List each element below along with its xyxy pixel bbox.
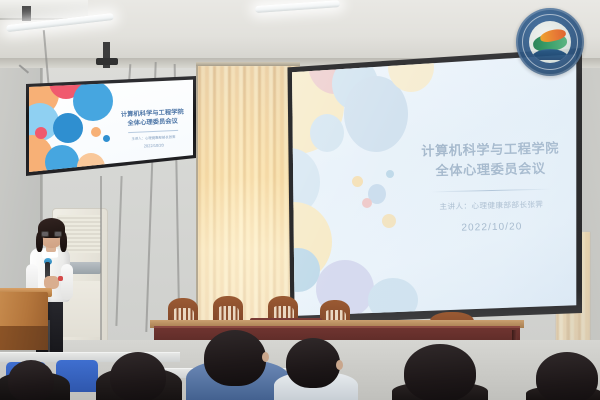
wall-mounted-tv: 计算机科学与工程学院 全体心理委员会议 主讲人：心理健康部部长张霁 2022/1…: [26, 76, 196, 176]
presenter-right-arm: [61, 264, 73, 300]
curtain-rod: [196, 62, 300, 66]
podium-base: [0, 326, 48, 350]
slide-title-line1: 计算机科学与工程学院: [407, 138, 573, 162]
presenter-leg-split: [48, 320, 50, 354]
slide-presenter-line: 主讲人：心理健康部部长张霁: [408, 198, 574, 213]
presenter-glasses-icon: [41, 231, 62, 237]
tv-bubble: [91, 127, 101, 137]
projector-body: [22, 6, 31, 21]
audience-head: [404, 344, 476, 400]
tv-slide-title-line2: 全体心理委员会议: [117, 117, 189, 130]
tv-slide-divider: [128, 130, 178, 133]
university-seal-logo: [516, 8, 584, 76]
audience-ear: [262, 352, 269, 362]
seal-inner-disc: [529, 21, 571, 63]
audience-ear: [336, 360, 343, 370]
tv-slide-date: 2022/10/20: [118, 141, 190, 149]
projection-screen: 计算机科学与工程学院 全体心理委员会议 主讲人：心理健康部部长张霁 2022/1…: [286, 48, 582, 324]
tv-bubble: [53, 113, 83, 143]
presenter-watch: [58, 276, 63, 281]
tv-bubble: [73, 81, 113, 121]
tv-bubble: [103, 135, 110, 142]
tv-slide-presenter: 主讲人：心理健康部部长张霁: [117, 133, 189, 141]
slide-bubble: [310, 114, 344, 152]
slide-divider-rule: [431, 189, 551, 193]
audience-head: [204, 330, 266, 386]
audience-head: [110, 352, 166, 400]
tv-slide-text: 计算机科学与工程学院 全体心理委员会议 主讲人：心理健康部部长张霁 2022/1…: [116, 107, 190, 149]
slide-bubble: [362, 198, 372, 208]
curtain-backlight: [198, 66, 298, 330]
projection-screen-surface: 计算机科学与工程学院 全体心理委员会议 主讲人：心理健康部部长张霁 2022/1…: [290, 52, 578, 318]
slide-title-line2: 全体心理委员会议: [407, 159, 573, 183]
slide-bubble: [352, 176, 363, 187]
audience-head: [536, 352, 598, 400]
audience-head: [286, 338, 340, 388]
slide-date: 2022/10/20: [409, 220, 575, 235]
slide-bubble: [386, 170, 394, 178]
slide-bubble: [382, 214, 396, 228]
tv-bubble: [99, 107, 105, 113]
projector-base-plate: [96, 58, 118, 65]
seal-wave-icon: [531, 49, 569, 60]
tv-power-cable: [100, 176, 102, 342]
classroom-photo-scene: 计算机科学与工程学院 全体心理委员会议 主讲人：心理健康部部长张霁 2022/1…: [0, 0, 600, 400]
slide-text-block: 计算机科学与工程学院 全体心理委员会议 主讲人：心理健康部部长张霁 2022/1…: [407, 138, 575, 235]
tv-bubble: [35, 127, 47, 139]
audience-head: [8, 360, 54, 400]
